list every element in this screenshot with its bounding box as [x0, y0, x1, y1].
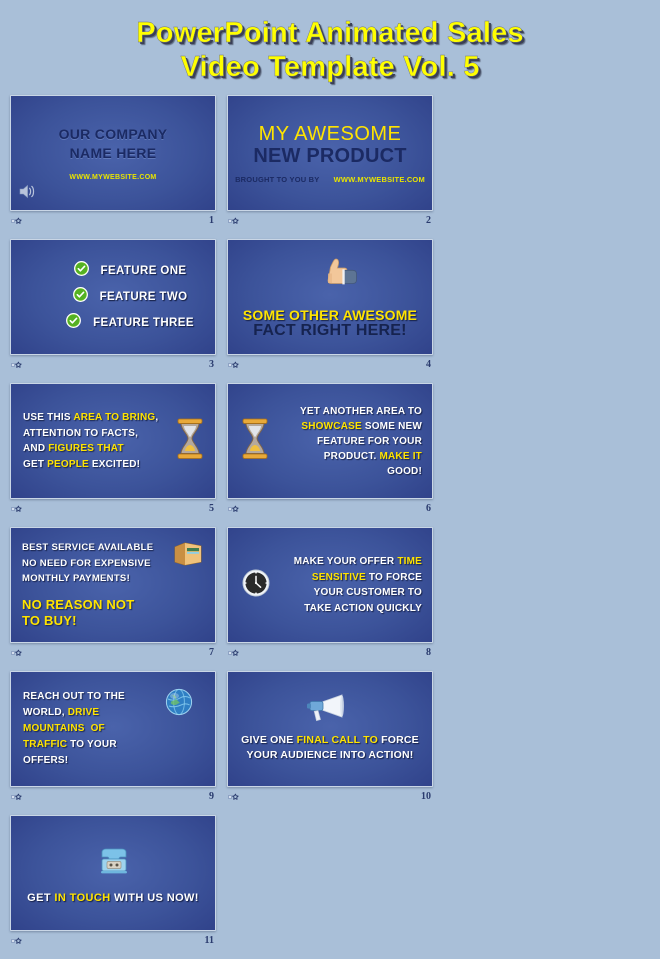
text-run: FORCE — [378, 734, 419, 746]
check-circle-icon — [74, 261, 89, 281]
feature-row: FEATURE ONE — [74, 261, 187, 281]
slide-number: 1 — [209, 215, 216, 226]
slide-canvas-7[interactable]: BEST SERVICE AVAILABLE NO NEED FOR EXPEN… — [10, 527, 216, 643]
text-run: YOUR CUSTOMER TO — [314, 587, 422, 598]
slide-content-7: BEST SERVICE AVAILABLE NO NEED FOR EXPEN… — [11, 528, 215, 642]
animation-star-icon[interactable] — [11, 791, 23, 802]
time-sensitive-text: MAKE YOUR OFFER TIMESENSITIVE TO FORCEYO… — [276, 554, 422, 616]
slide-meta-7: 7 — [10, 643, 218, 660]
slide-thumbnail-1[interactable]: OUR COMPANY NAME HERE WWW.MYWEBSITE.COM — [10, 95, 218, 228]
slide-number: 3 — [209, 359, 216, 370]
text-run: WITH US NOW! — [111, 892, 199, 904]
cta-line-1: NO REASON NOT — [22, 597, 134, 613]
text-run: FINAL CALL TO — [297, 734, 378, 746]
text-run: ATTENTION TO FACTS, — [23, 428, 138, 439]
text-run: DRIVE — [68, 707, 100, 718]
slide-canvas-10[interactable]: GIVE ONE FINAL CALL TO FORCEYOUR AUDIENC… — [227, 671, 433, 787]
website-url: WWW.MYWEBSITE.COM — [69, 174, 156, 181]
fact-line-2: FACT RIGHT HERE! — [253, 323, 406, 340]
clock-icon — [242, 569, 270, 602]
animation-star-icon[interactable] — [11, 359, 23, 370]
slide-number: 2 — [426, 215, 433, 226]
slide-content-4: SOME OTHER AWESOME FACT RIGHT HERE! — [228, 240, 432, 354]
speaker-icon — [19, 184, 36, 204]
slide-meta-4: 4 — [227, 355, 435, 372]
slide-content-9: REACH OUT TO THEWORLD, DRIVEMOUNTAINS OF… — [11, 672, 215, 786]
slide-meta-8: 8 — [227, 643, 435, 660]
website-url: WWW.MYWEBSITE.COM — [334, 175, 425, 184]
slide-thumbnail-4[interactable]: SOME OTHER AWESOME FACT RIGHT HERE! 4 — [227, 239, 435, 372]
text-run: TIME — [397, 556, 422, 567]
text-run: EXCITED! — [89, 459, 140, 470]
attention-facts-text: USE THIS AREA TO BRING,ATTENTION TO FACT… — [23, 410, 175, 472]
text-run: TO FORCE — [366, 572, 422, 583]
final-call-text: GIVE ONE FINAL CALL TO FORCEYOUR AUDIENC… — [241, 733, 419, 765]
slide-content-11: GET IN TOUCH WITH US NOW! — [11, 816, 215, 930]
page-title-line-2: Video Template Vol. 5 — [0, 50, 660, 84]
slide-meta-1: 1 — [10, 211, 218, 228]
text-run: TRAFFIC — [23, 739, 67, 750]
check-circle-icon — [66, 313, 81, 333]
animation-star-icon[interactable] — [228, 503, 240, 514]
text-run: USE THIS — [23, 412, 73, 423]
text-run: REACH OUT TO THE — [23, 691, 125, 702]
animation-star-icon[interactable] — [228, 359, 240, 370]
slide-number: 8 — [426, 647, 433, 658]
feature-row: FEATURE THREE — [66, 313, 194, 333]
slide-canvas-8[interactable]: MAKE YOUR OFFER TIMESENSITIVE TO FORCEYO… — [227, 527, 433, 643]
feature-label: FEATURE ONE — [101, 265, 187, 277]
slide-content-6: YET ANOTHER AREA TOSHOWCASE SOME NEWFEAT… — [228, 384, 432, 498]
text-run: GET — [27, 892, 54, 904]
text-run: GET — [23, 459, 47, 470]
cta-line-2: TO BUY! — [22, 613, 77, 629]
slide-number: 7 — [209, 647, 216, 658]
text-run: FEATURE FOR YOUR — [317, 436, 422, 447]
service-line-1: BEST SERVICE AVAILABLE — [22, 540, 153, 555]
product-headline: MY AWESOME — [259, 124, 402, 145]
slide-thumbnail-9[interactable]: REACH OUT TO THEWORLD, DRIVEMOUNTAINS OF… — [10, 671, 218, 804]
check-circle-icon — [73, 287, 88, 307]
slide-thumbnail-6[interactable]: YET ANOTHER AREA TOSHOWCASE SOME NEWFEAT… — [227, 383, 435, 516]
slide-canvas-2[interactable]: MY AWESOME NEW PRODUCT BROUGHT TO YOU BY… — [227, 95, 433, 211]
get-in-touch-text: GET IN TOUCH WITH US NOW! — [27, 892, 199, 904]
slide-number: 4 — [426, 359, 433, 370]
slide-meta-5: 5 — [10, 499, 218, 516]
text-run: IN TOUCH — [54, 892, 110, 904]
page-title: PowerPoint Animated Sales Video Template… — [0, 0, 660, 84]
slide-canvas-3[interactable]: FEATURE ONE FEATURE TWO FEATURE THREE — [10, 239, 216, 355]
company-name-line-2: NAME HERE — [70, 144, 157, 163]
slide-canvas-11[interactable]: GET IN TOUCH WITH US NOW! — [10, 815, 216, 931]
text-run: MAKE IT — [379, 451, 422, 462]
slide-meta-3: 3 — [10, 355, 218, 372]
text-run: FIGURES THAT — [48, 443, 124, 454]
slide-content-10: GIVE ONE FINAL CALL TO FORCEYOUR AUDIENC… — [228, 672, 432, 786]
slide-number: 9 — [209, 791, 216, 802]
text-run: WORLD, — [23, 707, 68, 718]
text-run: GOOD! — [387, 466, 422, 477]
slide-thumbnail-10[interactable]: GIVE ONE FINAL CALL TO FORCEYOUR AUDIENC… — [227, 671, 435, 804]
fact-line-1: SOME OTHER AWESOME — [243, 307, 417, 323]
animation-star-icon[interactable] — [228, 647, 240, 658]
page-title-line-1: PowerPoint Animated Sales — [0, 16, 660, 50]
slide-canvas-6[interactable]: YET ANOTHER AREA TOSHOWCASE SOME NEWFEAT… — [227, 383, 433, 499]
feature-label: FEATURE THREE — [93, 317, 194, 329]
text-run: AND — [23, 443, 48, 454]
animation-star-icon[interactable] — [11, 215, 23, 226]
text-run: PRODUCT. — [324, 451, 380, 462]
hourglass-icon — [175, 418, 205, 465]
text-run: TO YOUR — [67, 739, 117, 750]
slide-content-2: MY AWESOME NEW PRODUCT BROUGHT TO YOU BY… — [228, 96, 432, 210]
slide-meta-2: 2 — [227, 211, 435, 228]
text-run: MAKE YOUR OFFER — [294, 556, 398, 567]
feature-row: FEATURE TWO — [73, 287, 188, 307]
text-run: YET ANOTHER AREA TO — [300, 406, 422, 417]
slide-thumbnail-7[interactable]: BEST SERVICE AVAILABLE NO NEED FOR EXPEN… — [10, 527, 218, 660]
slide-content-1: OUR COMPANY NAME HERE WWW.MYWEBSITE.COM — [11, 96, 215, 210]
slide-thumbnail-8[interactable]: MAKE YOUR OFFER TIMESENSITIVE TO FORCEYO… — [227, 527, 435, 660]
animation-star-icon[interactable] — [228, 791, 240, 802]
slide-thumbnail-5[interactable]: USE THIS AREA TO BRING,ATTENTION TO FACT… — [10, 383, 218, 516]
slide-number: 5 — [209, 503, 216, 514]
brought-to-you-by-row: BROUGHT TO YOU BY WWW.MYWEBSITE.COM — [235, 175, 425, 184]
text-run: MOUNTAINS OF — [23, 723, 105, 734]
brought-to-you-by-label: BROUGHT TO YOU BY — [235, 175, 319, 184]
slide-thumbnail-2[interactable]: MY AWESOME NEW PRODUCT BROUGHT TO YOU BY… — [227, 95, 435, 228]
slide-grid: OUR COMPANY NAME HERE WWW.MYWEBSITE.COM — [10, 95, 658, 959]
slide-meta-6: 6 — [227, 499, 435, 516]
text-run: SENSITIVE — [312, 572, 366, 583]
slide-number: 11 — [205, 935, 216, 946]
text-run: AREA TO BRING — [73, 412, 155, 423]
slide-thumbnail-11[interactable]: GET IN TOUCH WITH US NOW! 11 — [10, 815, 218, 948]
service-line-2: NO NEED FOR EXPENSIVE — [22, 556, 151, 571]
slide-canvas-4[interactable]: SOME OTHER AWESOME FACT RIGHT HERE! — [227, 239, 433, 355]
slide-canvas-9[interactable]: REACH OUT TO THEWORLD, DRIVEMOUNTAINS OF… — [10, 671, 216, 787]
text-run: YOUR AUDIENCE INTO ACTION! — [247, 749, 414, 761]
slide-meta-10: 10 — [227, 787, 435, 804]
slide-meta-11: 11 — [10, 931, 218, 948]
slide-thumbnail-3[interactable]: FEATURE ONE FEATURE TWO FEATURE THREE — [10, 239, 218, 372]
slide-content-5: USE THIS AREA TO BRING,ATTENTION TO FACT… — [11, 384, 215, 498]
animation-star-icon[interactable] — [11, 647, 23, 658]
text-run: GIVE ONE — [241, 734, 296, 746]
slide-number: 10 — [421, 791, 433, 802]
reach-world-text: REACH OUT TO THEWORLD, DRIVEMOUNTAINS OF… — [23, 689, 207, 769]
text-run: PEOPLE — [47, 459, 89, 470]
product-subheadline: NEW PRODUCT — [253, 145, 406, 167]
text-run: OFFERS! — [23, 755, 68, 766]
slide-content-3: FEATURE ONE FEATURE TWO FEATURE THREE — [11, 240, 215, 354]
slide-canvas-5[interactable]: USE THIS AREA TO BRING,ATTENTION TO FACT… — [10, 383, 216, 499]
animation-star-icon[interactable] — [11, 503, 23, 514]
hourglass-icon — [240, 418, 270, 465]
text-run: SOME NEW — [362, 421, 422, 432]
animation-star-icon[interactable] — [11, 935, 23, 946]
slide-content-8: MAKE YOUR OFFER TIMESENSITIVE TO FORCEYO… — [228, 528, 432, 642]
feature-label: FEATURE TWO — [100, 291, 188, 303]
text-run: , — [155, 412, 158, 423]
animation-star-icon[interactable] — [228, 215, 240, 226]
slide-canvas-1[interactable]: OUR COMPANY NAME HERE WWW.MYWEBSITE.COM — [10, 95, 216, 211]
company-name-line-1: OUR COMPANY — [59, 125, 168, 144]
showcase-feature-text: YET ANOTHER AREA TOSHOWCASE SOME NEWFEAT… — [274, 404, 422, 479]
slide-meta-9: 9 — [10, 787, 218, 804]
text-run: SHOWCASE — [301, 421, 362, 432]
slide-number: 6 — [426, 503, 433, 514]
text-run: TAKE ACTION QUICKLY — [304, 603, 422, 614]
service-line-3: MONTHLY PAYMENTS! — [22, 571, 130, 586]
